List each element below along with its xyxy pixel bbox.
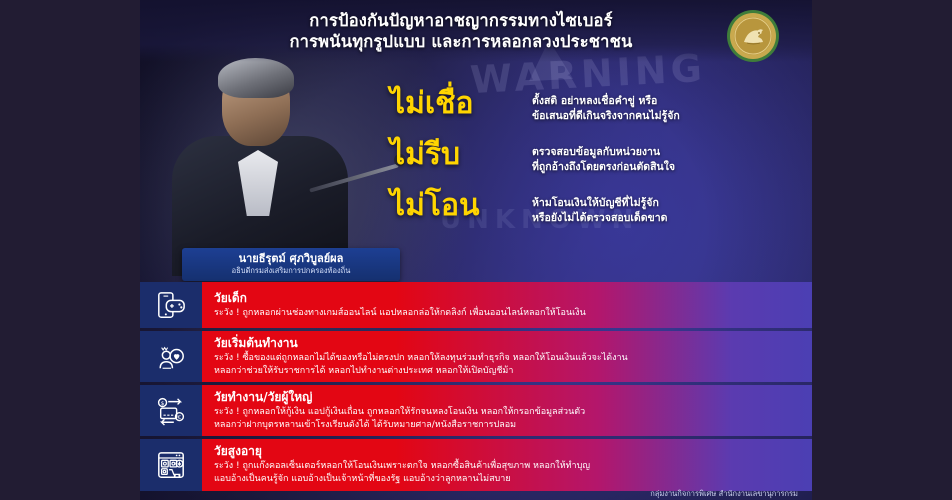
row-content: วัยทำงาน/วัยผู้ใหญ่ ระวัง ! ถูกหลอกให้กู…	[202, 385, 812, 436]
job-seeker-icon	[156, 342, 186, 372]
slogan-description-line-2: ข้อเสนอที่ดีเกินจริงจากคนไม่รู้จัก	[532, 109, 810, 124]
speaker-hair	[218, 58, 294, 98]
age-group-description-line-2: หลอกว่าช่วยให้รับราชการได้ หลอกไปทำงานต่…	[214, 365, 802, 378]
age-group-description-line-1: ระวัง ! ถูกแก๊งคอลเซ็นเตอร์หลอกให้โอนเงิ…	[214, 460, 802, 473]
row-content: วัยสูงอายุ ระวัง ! ถูกแก๊งคอลเซ็นเตอร์หล…	[202, 439, 812, 490]
screenshot-stage: WARNING UNKNOWN การป้องกันปัญหาอาชญากรรม…	[0, 0, 952, 500]
speaker-portrait	[150, 58, 380, 273]
age-group-description-line-2: หลอกว่าฝากบุตรหลานเข้าโรงเรียนดังได้ ได้…	[214, 419, 802, 432]
svg-text:€: €	[178, 415, 182, 421]
page-title: การป้องกันปัญหาอาชญากรรมทางไซเบอร์ การพน…	[249, 10, 702, 53]
age-group-title: วัยเด็ก	[214, 291, 802, 306]
age-group-description-line-2: แอบอ้างเป็นคนรู้จัก แอบอ้างเป็นเจ้าหน้าท…	[214, 473, 802, 486]
slogan-description-line-1: ตรวจสอบข้อมูลกับหน่วยงาน	[532, 145, 810, 160]
slogan-keyword: ไม่รีบ	[390, 139, 532, 171]
page-title-line-1: การป้องกันปัญหาอาชญากรรมทางไซเบอร์	[289, 10, 632, 31]
slogan-row: ไม่เชื่อ ตั้งสติ อย่าหลงเชื่อคำขู่ หรือ …	[390, 88, 810, 133]
page-title-line-2: การพนันทุกรูปแบบ และการหลอกลวงประชาชน	[289, 31, 632, 52]
svg-text:$: $	[161, 401, 165, 407]
phone-game-controller-icon	[156, 290, 186, 320]
age-group-description: ระวัง ! ถูกหลอกผ่านช่องทางเกมส์ออนไลน์ แ…	[214, 307, 802, 320]
slogan-description-line-1: ตั้งสติ อย่าหลงเชื่อคำขู่ หรือ	[532, 94, 810, 109]
age-group-description-line-1: ระวัง ! ถูกหลอกให้กู้เงิน แอปกู้เงินเถื่…	[214, 406, 802, 419]
age-group-description-line-1: ระวัง ! ถูกหลอกผ่านช่องทางเกมส์ออนไลน์ แ…	[214, 307, 802, 320]
slogan-description-line-2: หรือยังไม่ได้ตรวจสอบเด็ดขาด	[532, 211, 810, 226]
age-group-title: วัยทำงาน/วัยผู้ใหญ่	[214, 390, 802, 405]
online-shopping-icon	[156, 450, 186, 480]
row-icon-cell	[140, 331, 202, 382]
infographic-poster: WARNING UNKNOWN การป้องกันปัญหาอาชญากรรม…	[140, 0, 812, 500]
age-group-title: วัยเริ่มต้นทำงาน	[214, 336, 802, 351]
age-group-description: ระวัง ! ถูกหลอกให้กู้เงิน แอปกู้เงินเถื่…	[214, 406, 802, 431]
slogan-keyword: ไม่เชื่อ	[390, 88, 532, 120]
age-group-description: ระวัง ! ถูกแก๊งคอลเซ็นเตอร์หลอกให้โอนเงิ…	[214, 460, 802, 485]
slogan-keyword: ไม่โอน	[390, 190, 532, 222]
slogan-block: ไม่เชื่อ ตั้งสติ อย่าหลงเชื่อคำขู่ หรือ …	[390, 88, 810, 241]
slogan-row: ไม่รีบ ตรวจสอบข้อมูลกับหน่วยงาน ที่ถูกอ้…	[390, 139, 810, 184]
slogan-description: ตรวจสอบข้อมูลกับหน่วยงาน ที่ถูกอ้างถึงโด…	[532, 139, 810, 175]
age-group-row: วัยเริ่มต้นทำงาน ระวัง ! ซื้อของแต่ถูกหล…	[140, 331, 812, 382]
speaker-name: นายธีรุตม์ ศุภวิบูลย์ผล	[192, 252, 390, 265]
slogan-description-line-2: ที่ถูกอ้างถึงโดยตรงก่อนตัดสินใจ	[532, 160, 810, 175]
age-group-list: วัยเด็ก ระวัง ! ถูกหลอกผ่านช่องทางเกมส์อ…	[140, 282, 812, 494]
slogan-description-line-1: ห้ามโอนเงินให้บัญชีที่ไม่รู้จัก	[532, 196, 810, 211]
row-icon-cell	[140, 439, 202, 490]
row-icon-cell: $ €	[140, 385, 202, 436]
speaker-role: อธิบดีกรมส่งเสริมการปกครองท้องถิ่น	[192, 266, 390, 276]
money-transfer-icon: $ €	[156, 396, 186, 426]
age-group-row: $ € วัยทำงาน/วัยผู้ใหญ่ ระวัง ! ถูกหลอกใ…	[140, 385, 812, 436]
government-emblem-icon	[726, 9, 780, 63]
row-icon-cell	[140, 282, 202, 328]
footer-credit: กลุ่มงานกิจการพิเศษ สำนักงานเลขานุการกรม	[140, 489, 812, 498]
row-content: วัยเริ่มต้นทำงาน ระวัง ! ซื้อของแต่ถูกหล…	[202, 331, 812, 382]
age-group-row: วัยสูงอายุ ระวัง ! ถูกแก๊งคอลเซ็นเตอร์หล…	[140, 439, 812, 490]
row-content: วัยเด็ก ระวัง ! ถูกหลอกผ่านช่องทางเกมส์อ…	[202, 282, 812, 328]
slogan-row: ไม่โอน ห้ามโอนเงินให้บัญชีที่ไม่รู้จัก ห…	[390, 190, 810, 235]
slogan-description: ห้ามโอนเงินให้บัญชีที่ไม่รู้จัก หรือยังไ…	[532, 190, 810, 226]
age-group-title: วัยสูงอายุ	[214, 444, 802, 459]
slogan-description: ตั้งสติ อย่าหลงเชื่อคำขู่ หรือ ข้อเสนอที…	[532, 88, 810, 124]
age-group-row: วัยเด็ก ระวัง ! ถูกหลอกผ่านช่องทางเกมส์อ…	[140, 282, 812, 328]
speaker-nameplate: นายธีรุตม์ ศุภวิบูลย์ผล อธิบดีกรมส่งเสริ…	[182, 248, 400, 281]
header-band: การป้องกันปัญหาอาชญากรรมทางไซเบอร์ การพน…	[140, 0, 812, 62]
age-group-description: ระวัง ! ซื้อของแต่ถูกหลอกไม่ได้ของหรือไม…	[214, 352, 802, 377]
age-group-description-line-1: ระวัง ! ซื้อของแต่ถูกหลอกไม่ได้ของหรือไม…	[214, 352, 802, 365]
